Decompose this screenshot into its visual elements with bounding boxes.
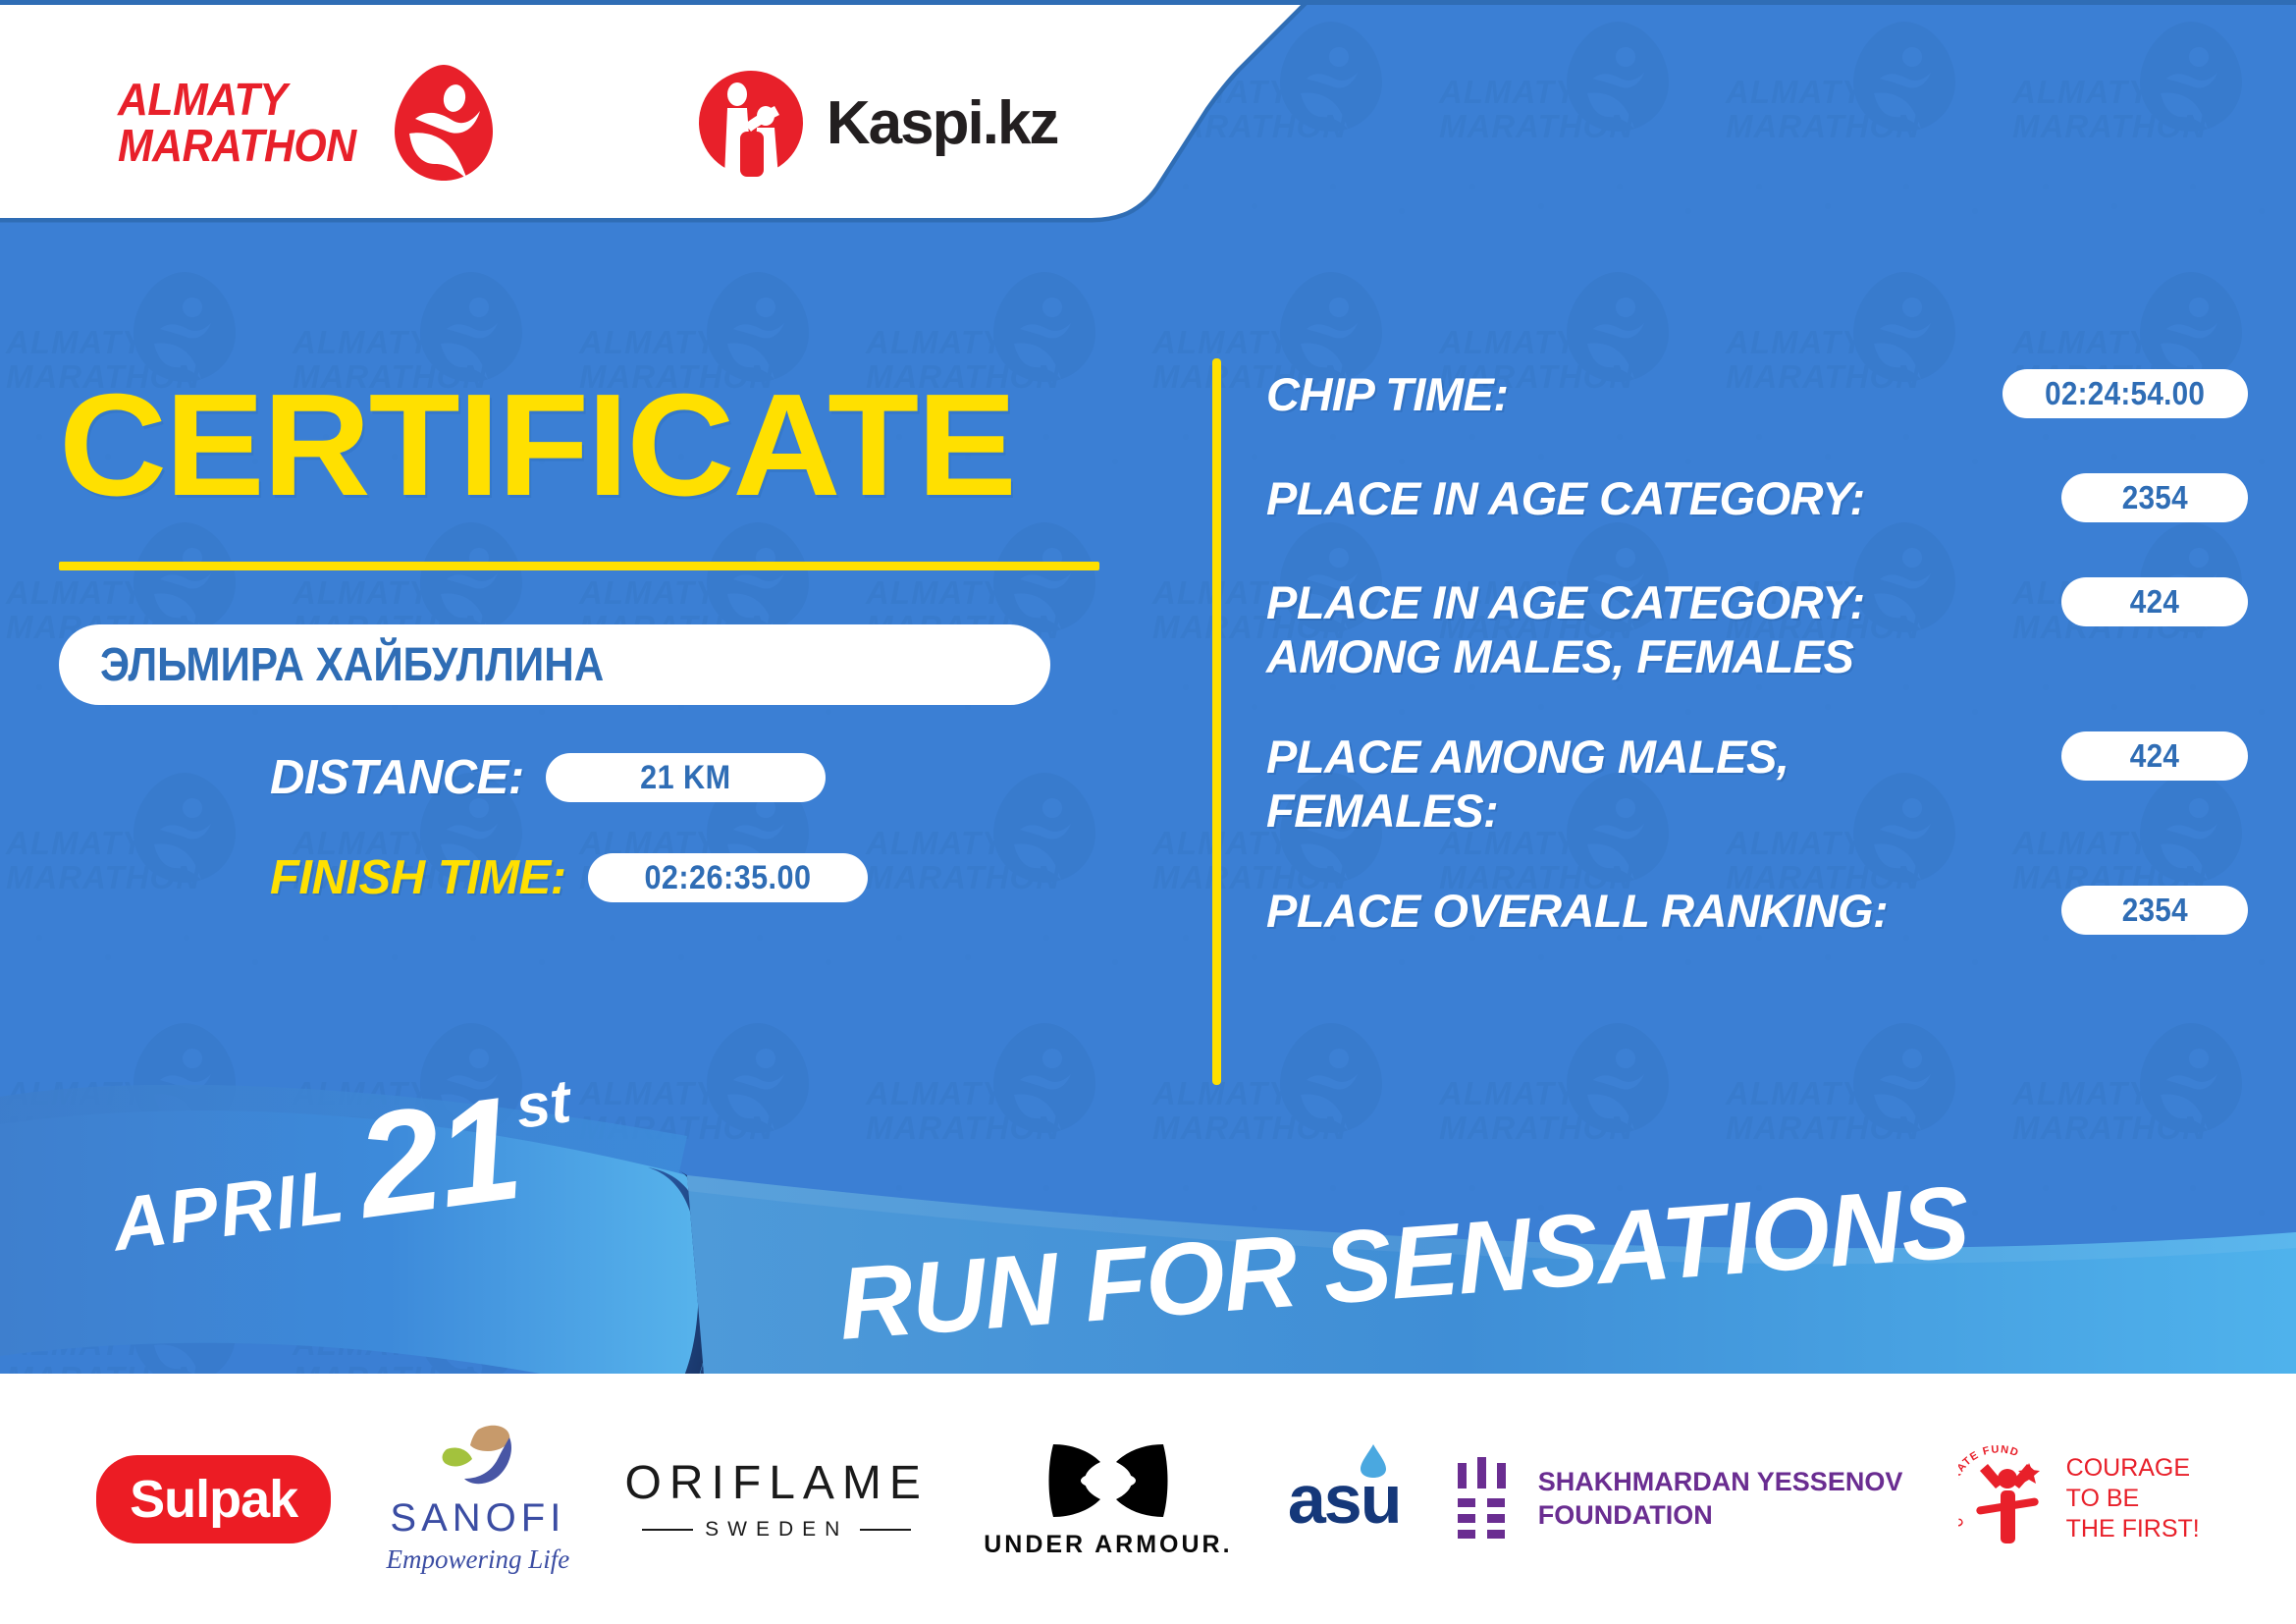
kaspi-logo: Kaspi.kz xyxy=(697,69,1058,177)
finish-time-row: FINISH TIME: 02:26:35.00 xyxy=(59,850,1168,905)
right-column: CHIP TIME: 02:24:54.00 PLACE IN AGE CATE… xyxy=(1266,365,2248,986)
kaspi-family-circle-icon xyxy=(697,69,805,177)
event-day-suffix: st xyxy=(511,1066,574,1143)
place-among-gender-value-field: 424 xyxy=(2061,731,2248,781)
chip-time-row: CHIP TIME: 02:24:54.00 xyxy=(1266,365,2248,426)
event-day: 21 xyxy=(350,1081,526,1233)
place-among-gender-row: PLACE AMONG MALES, FEMALES: 424 xyxy=(1266,728,2248,839)
almaty-marathon-logo: ALMATY MARATHON xyxy=(118,62,501,185)
oriflame-rule-left xyxy=(642,1529,693,1531)
yessenov-label-line2: FOUNDATION xyxy=(1538,1499,1903,1533)
certificate-canvas: ALMATY MARATHON ALMATY MARATHON xyxy=(0,0,2296,1624)
courage-label-line2: TO BE xyxy=(2066,1484,2200,1514)
finish-time-value: 02:26:35.00 xyxy=(644,859,811,897)
place-among-gender-label: PLACE AMONG MALES, FEMALES: xyxy=(1266,728,1789,839)
place-age-category-gender-row: PLACE IN AGE CATEGORY: AMONG MALES, FEMA… xyxy=(1266,573,2248,684)
athlete-name-field: ЭЛЬМИРА ХАЙБУЛЛИНА xyxy=(59,624,1050,705)
runner-droplet-icon xyxy=(388,62,501,185)
courage-label-line1: COURAGE xyxy=(2066,1453,2200,1484)
distance-label: DISTANCE: xyxy=(270,750,524,805)
sanofi-tagline: Empowering Life xyxy=(387,1544,570,1575)
kaspi-label: Kaspi.kz xyxy=(827,88,1058,158)
column-divider xyxy=(1212,358,1221,1085)
place-overall-value: 2354 xyxy=(2121,892,2187,929)
under-armour-icon xyxy=(1045,1438,1171,1523)
sponsor-asu: asu xyxy=(1288,1460,1401,1539)
place-age-category-gender-value: 424 xyxy=(2130,583,2179,621)
finish-time-label: FINISH TIME: xyxy=(270,850,566,905)
yessenov-label-line1: SHAKHMARDAN YESSENOV xyxy=(1538,1466,1903,1499)
chip-time-value-field: 02:24:54.00 xyxy=(2002,369,2248,418)
title-underline xyxy=(59,562,1099,570)
place-age-category-value-field: 2354 xyxy=(2061,473,2248,522)
sponsor-sulpak: Sulpak xyxy=(96,1455,331,1543)
sponsor-strip: Sulpak SANOFI Empowering Life ORIFLAME S… xyxy=(0,1374,2296,1624)
place-age-category-gender-value-field: 424 xyxy=(2061,577,2248,626)
finish-time-value-field: 02:26:35.00 xyxy=(588,853,868,902)
courage-figure-icon: CORPORATE FUND xyxy=(1958,1445,2053,1553)
distance-value: 21 KM xyxy=(640,759,730,797)
oriflame-rule-right xyxy=(860,1529,911,1531)
chip-time-value: 02:24:54.00 xyxy=(2045,375,2205,412)
place-age-category-value: 2354 xyxy=(2121,479,2187,516)
place-age-category-gender-label: PLACE IN AGE CATEGORY: AMONG MALES, FEMA… xyxy=(1266,573,1865,684)
almaty-marathon-line2: MARATHON xyxy=(118,123,356,169)
sanofi-label: SANOFI xyxy=(387,1496,570,1541)
distance-row: DISTANCE: 21 KM xyxy=(59,750,1168,805)
oriflame-label: ORIFLAME xyxy=(625,1456,929,1510)
sponsor-oriflame: ORIFLAME SWEDEN xyxy=(625,1456,929,1542)
place-overall-label: PLACE OVERALL RANKING: xyxy=(1266,882,1888,938)
courage-label-line3: THE FIRST! xyxy=(2066,1514,2200,1544)
place-age-category-row: PLACE IN AGE CATEGORY: 2354 xyxy=(1266,469,2248,530)
sponsor-sanofi: SANOFI Empowering Life xyxy=(387,1424,570,1575)
place-overall-row: PLACE OVERALL RANKING: 2354 xyxy=(1266,882,2248,943)
sponsor-under-armour: UNDER ARMOUR. xyxy=(984,1438,1232,1559)
yessenov-bars-icon xyxy=(1456,1457,1513,1542)
almaty-marathon-line1: ALMATY xyxy=(118,77,356,123)
place-age-category-label: PLACE IN AGE CATEGORY: xyxy=(1266,469,1865,525)
page-title: CERTIFICATE xyxy=(59,373,1201,518)
oriflame-tagline: SWEDEN xyxy=(705,1518,848,1542)
asu-droplet-icon xyxy=(1361,1444,1386,1478)
top-border-line xyxy=(0,0,2296,5)
sanofi-mark-icon xyxy=(433,1424,523,1492)
left-column: CERTIFICATE ЭЛЬМИРА ХАЙБУЛЛИНА DISTANCE:… xyxy=(59,373,1168,905)
sponsor-yessenov-foundation: SHAKHMARDAN YESSENOV FOUNDATION xyxy=(1456,1457,1903,1542)
header-logos: ALMATY MARATHON Kaspi.kz xyxy=(0,0,1227,245)
distance-value-field: 21 KM xyxy=(546,753,826,802)
place-overall-value-field: 2354 xyxy=(2061,886,2248,935)
under-armour-label: UNDER ARMOUR. xyxy=(984,1531,1232,1559)
chip-time-label: CHIP TIME: xyxy=(1266,365,1509,421)
sponsor-courage-to-be-the-first: CORPORATE FUND COURAGE TO BE THE FIRST! xyxy=(1958,1445,2200,1553)
sulpak-label: Sulpak xyxy=(96,1455,331,1543)
place-among-gender-value: 424 xyxy=(2130,737,2179,775)
athlete-name: ЭЛЬМИРА ХАЙБУЛЛИНА xyxy=(100,638,604,692)
